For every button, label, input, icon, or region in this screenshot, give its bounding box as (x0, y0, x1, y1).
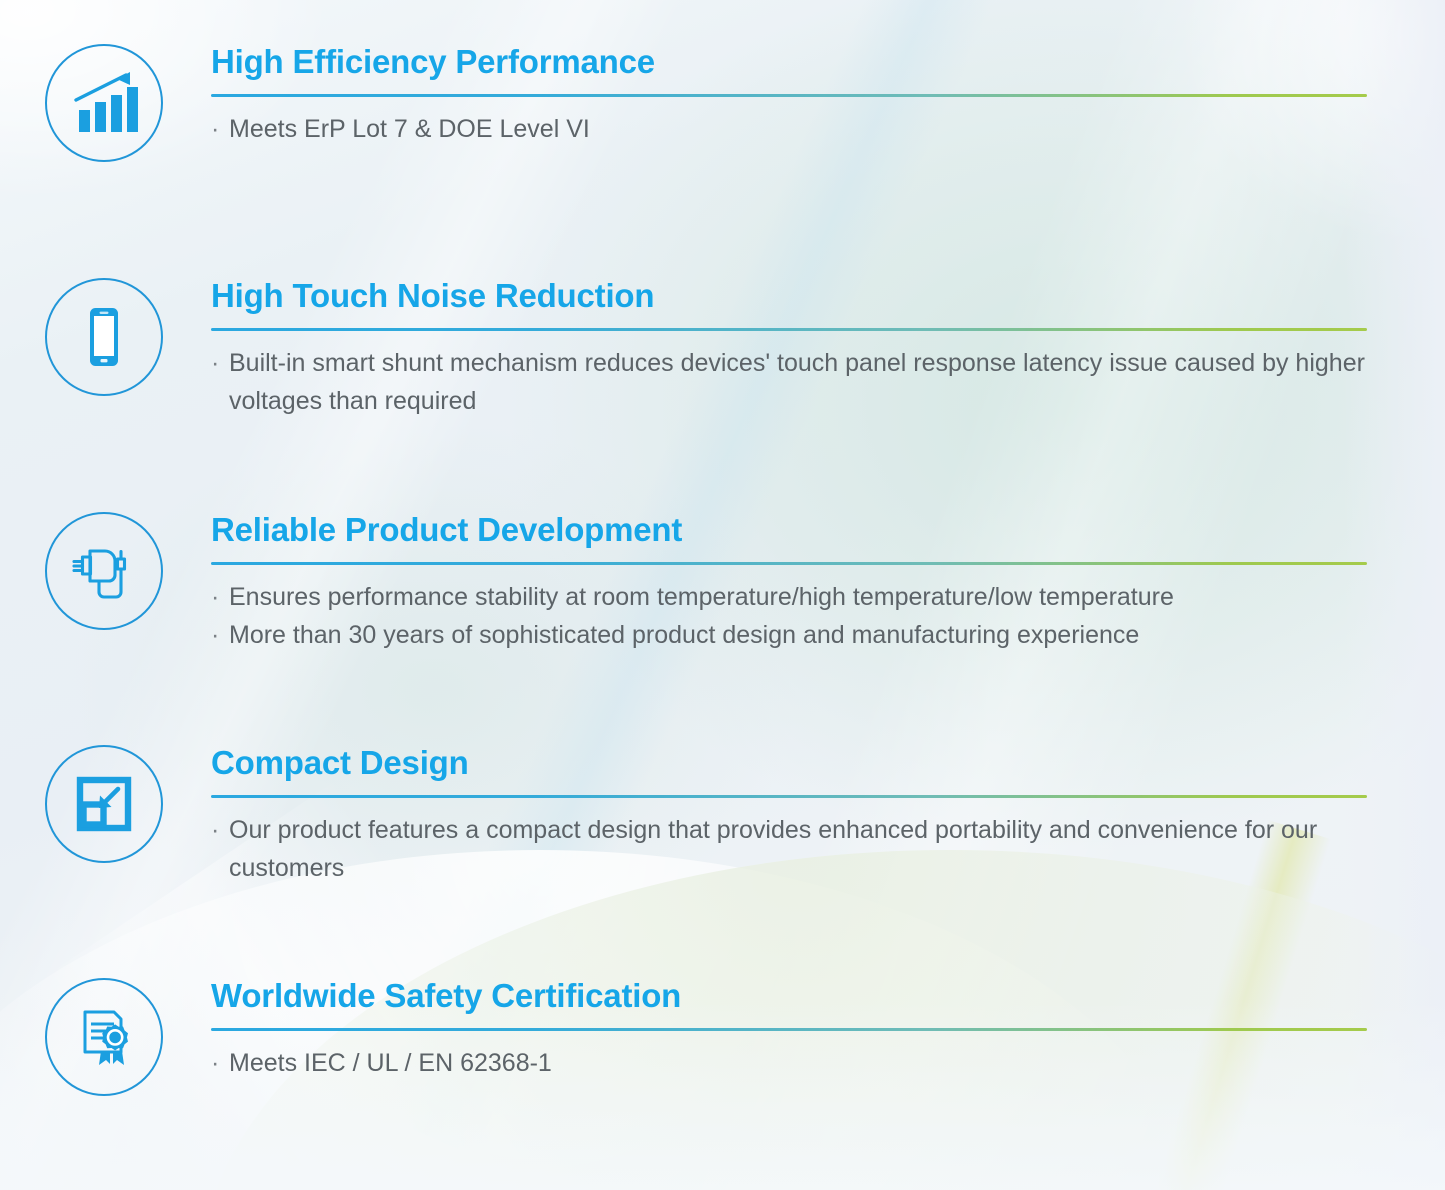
bullet-text: Ensures performance stability at room te… (229, 583, 1174, 611)
feature-title: Compact Design (211, 745, 1367, 781)
feature-divider (211, 1028, 1367, 1031)
bullet-marker: · (211, 578, 229, 617)
power-adapter-icon (45, 512, 163, 630)
feature-item-compact-design: Compact Design ·Our product features a c… (0, 745, 1445, 888)
bullet-marker: · (211, 811, 229, 850)
bullet-item: ·More than 30 years of sophisticated pro… (211, 616, 1367, 655)
feature-divider (211, 562, 1367, 565)
bullet-marker: · (211, 1044, 229, 1083)
feature-bullets: ·Built-in smart shunt mechanism reduces … (211, 344, 1367, 421)
feature-bullets: ·Meets ErP Lot 7 & DOE Level VI (211, 110, 1367, 149)
feature-highlights-page: High Efficiency Performance ·Meets ErP L… (0, 0, 1445, 1190)
bullet-item: ·Built-in smart shunt mechanism reduces … (211, 344, 1367, 421)
feature-icon-container (0, 44, 211, 162)
feature-text-container: Compact Design ·Our product features a c… (211, 745, 1445, 888)
bullet-marker: · (211, 344, 229, 383)
feature-title: Worldwide Safety Certification (211, 978, 1367, 1014)
feature-bullets: ·Our product features a compact design t… (211, 811, 1367, 888)
feature-text-container: Worldwide Safety Certification ·Meets IE… (211, 978, 1445, 1082)
feature-text-container: Reliable Product Development ·Ensures pe… (211, 512, 1445, 655)
feature-text-container: High Touch Noise Reduction ·Built-in sma… (211, 278, 1445, 421)
feature-item-reliable-product-development: Reliable Product Development ·Ensures pe… (0, 512, 1445, 655)
feature-icon-container (0, 745, 211, 863)
bullet-text: More than 30 years of sophisticated prod… (229, 621, 1139, 649)
features-list: High Efficiency Performance ·Meets ErP L… (0, 0, 1445, 1190)
feature-bullets: ·Ensures performance stability at room t… (211, 578, 1367, 655)
feature-bullets: ·Meets IEC / UL / EN 62368-1 (211, 1044, 1367, 1083)
feature-item-worldwide-safety-certification: Worldwide Safety Certification ·Meets IE… (0, 978, 1445, 1096)
feature-title: High Touch Noise Reduction (211, 278, 1367, 314)
bullet-marker: · (211, 110, 229, 149)
feature-item-high-touch-noise-reduction: High Touch Noise Reduction ·Built-in sma… (0, 278, 1445, 421)
feature-divider (211, 795, 1367, 798)
certificate-seal-icon (45, 978, 163, 1096)
feature-divider (211, 328, 1367, 331)
feature-item-high-efficiency-performance: High Efficiency Performance ·Meets ErP L… (0, 44, 1445, 162)
bullet-text: Our product features a compact design th… (229, 816, 1317, 883)
feature-icon-container (0, 512, 211, 630)
bullet-item: ·Meets ErP Lot 7 & DOE Level VI (211, 110, 1367, 149)
bullet-text: Meets IEC / UL / EN 62368-1 (229, 1049, 552, 1077)
feature-title: Reliable Product Development (211, 512, 1367, 548)
bar-chart-growth-icon (45, 44, 163, 162)
bullet-item: ·Meets IEC / UL / EN 62368-1 (211, 1044, 1367, 1083)
bullet-text: Meets ErP Lot 7 & DOE Level VI (229, 115, 590, 143)
bullet-marker: · (211, 616, 229, 655)
feature-icon-container (0, 978, 211, 1096)
feature-title: High Efficiency Performance (211, 44, 1367, 80)
bullet-text: Built-in smart shunt mechanism reduces d… (229, 349, 1365, 416)
feature-divider (211, 94, 1367, 97)
feature-icon-container (0, 278, 211, 396)
feature-text-container: High Efficiency Performance ·Meets ErP L… (211, 44, 1445, 148)
smartphone-icon (45, 278, 163, 396)
bullet-item: ·Our product features a compact design t… (211, 811, 1367, 888)
compact-resize-icon (45, 745, 163, 863)
bullet-item: ·Ensures performance stability at room t… (211, 578, 1367, 617)
